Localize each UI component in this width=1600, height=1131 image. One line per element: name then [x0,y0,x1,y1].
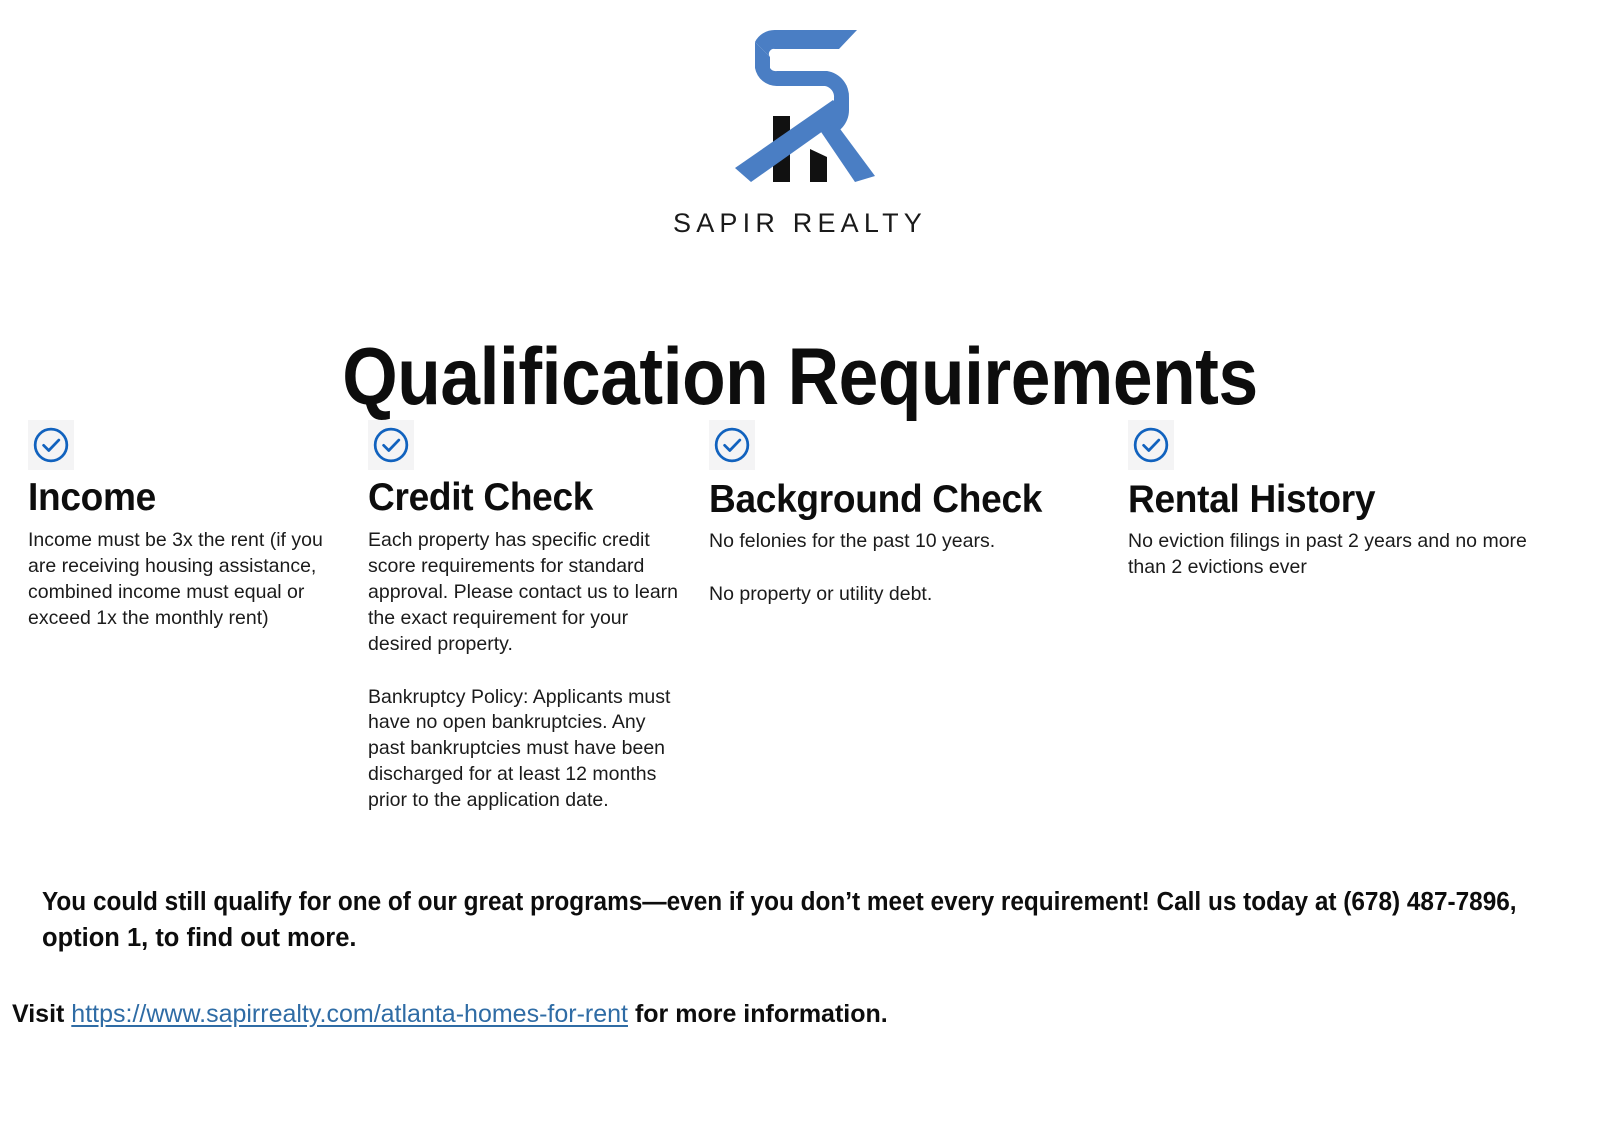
column-heading: Rental History [1128,480,1527,521]
check-circle-icon [28,420,74,470]
brand-logo-block: SAPIR REALTY [0,24,1600,237]
brand-wordmark: SAPIR REALTY [673,210,927,237]
column-body: No eviction filings in past 2 years and … [1128,529,1548,581]
column-paragraph: No property or utility debt. [709,582,1109,608]
column-heading: Background Check [709,480,1089,521]
column-body: No felonies for the past 10 years. No pr… [709,529,1109,608]
callout-text: You could still qualify for one of our g… [42,884,1532,956]
page-title: Qualification Requirements [96,337,1504,418]
column-heading: Income [28,478,332,519]
column-paragraph: No felonies for the past 10 years. [709,529,1109,555]
column-heading: Credit Check [368,478,664,519]
sapir-realty-sr-house-logo [715,24,885,204]
requirement-column-credit-check: Credit Check Each property has specific … [368,420,680,814]
visit-label: Visit [12,1000,64,1028]
requirements-columns: Income Income must be 3x the rent (if yo… [0,420,1600,850]
visit-line: Visit https://www.sapirrealty.com/atlant… [12,998,1572,1031]
check-circle-icon [709,420,755,470]
column-paragraph: No eviction filings in past 2 years and … [1128,529,1548,581]
callout-line-2: option 1, to find out more. [42,920,1532,956]
column-body: Each property has specific credit score … [368,528,680,814]
column-body: Income must be 3x the rent (if you are r… [28,528,348,632]
column-paragraph: Each property has specific credit score … [368,528,680,658]
visit-tail: for more information. [635,1000,888,1028]
callout-line-1: You could still qualify for one of our g… [42,884,1465,920]
check-circle-icon [368,420,414,470]
column-paragraph: Bankruptcy Policy: Applicants must have … [368,685,680,815]
requirement-column-rental-history: Rental History No eviction filings in pa… [1128,420,1548,581]
website-link[interactable]: https://www.sapirrealty.com/atlanta-home… [71,1000,628,1028]
column-paragraph: Income must be 3x the rent (if you are r… [28,528,348,632]
requirement-column-background-check: Background Check No felonies for the pas… [709,420,1109,608]
requirement-column-income: Income Income must be 3x the rent (if yo… [28,420,348,632]
check-circle-icon [1128,420,1174,470]
